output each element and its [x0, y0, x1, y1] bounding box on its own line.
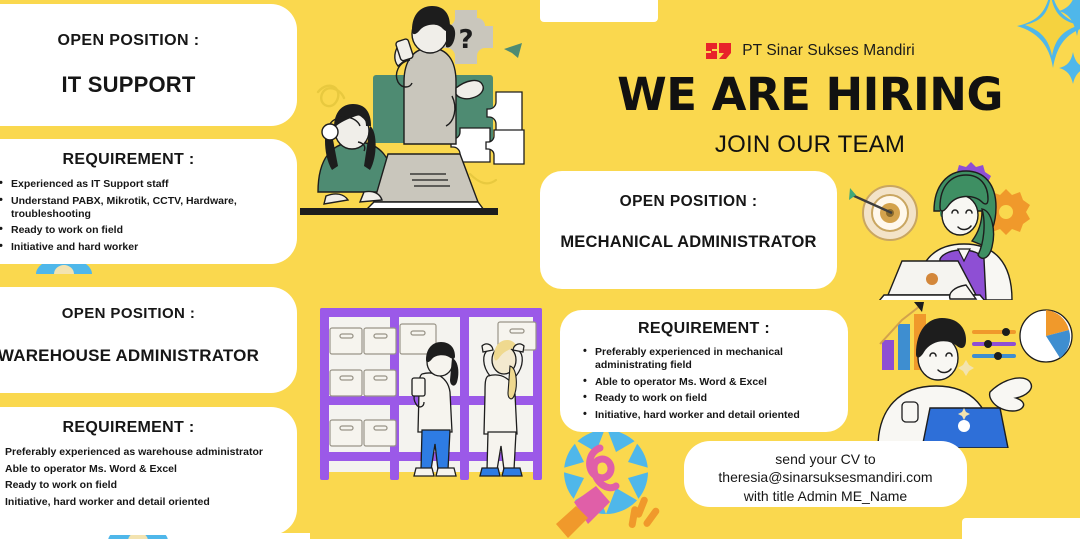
requirement-label-it: REQUIREMENT : [0, 151, 297, 169]
requirement-list-warehouse: Preferably experienced as warehouse admi… [0, 446, 297, 509]
contact-line-3: with title Admin ME_Name [684, 487, 967, 505]
requirement-item: Initiative, hard worker and detail orien… [0, 496, 297, 509]
requirement-item: Ready to work on field [0, 479, 297, 492]
warehouse-shelving-illustration [312, 300, 560, 488]
man-with-charts-illustration [868, 296, 1080, 448]
requirement-item: Able to operator Ms. Word & Excel [0, 463, 297, 476]
contact-email[interactable]: theresia@sinarsuksesmandiri.com [684, 468, 967, 486]
position-title-it-support: IT SUPPORT [0, 72, 297, 98]
open-position-label-warehouse: OPEN POSITION : [0, 305, 297, 322]
it-support-illustration: ? [300, 0, 550, 218]
svg-text:?: ? [458, 25, 473, 55]
requirement-item: Ready to work on field [582, 392, 848, 405]
requirement-item: Understand PABX, Mikrotik, CCTV, Hardwar… [0, 195, 297, 221]
requirement-list-mechanical: Preferably experienced in mechanical adm… [582, 346, 848, 422]
requirement-item: Initiative, hard worker and detail orien… [582, 409, 848, 422]
poster-canvas: ? [0, 0, 1080, 539]
top-edge-notch [540, 0, 658, 22]
card-mechanical-position: OPEN POSITION : MECHANICAL ADMINISTRATOR [540, 171, 837, 289]
bottom-right-edge-notch [962, 518, 1080, 539]
card-contact-info: send your CV to theresia@sinarsuksesmand… [684, 441, 967, 507]
requirement-item: Initiative and hard worker [0, 241, 297, 254]
requirement-item: Able to operator Ms. Word & Excel [582, 376, 848, 389]
requirement-label-warehouse: REQUIREMENT : [0, 419, 297, 437]
requirement-label-mechanical: REQUIREMENT : [560, 320, 848, 338]
company-name: PT Sinar Sukses Mandiri [742, 42, 915, 60]
join-team-subtitle: JOIN OUR TEAM [580, 131, 1040, 159]
card-mechanical-requirements: REQUIREMENT : Preferably experienced in … [560, 310, 848, 432]
open-position-label-it: OPEN POSITION : [0, 32, 297, 50]
lightbulb-idea-illustration [534, 424, 679, 539]
position-title-mechanical-administrator: MECHANICAL ADMINISTRATOR [540, 233, 837, 252]
hiring-title: WE ARE HIRING [580, 72, 1040, 117]
card-warehouse-requirements: REQUIREMENT : Preferably experienced as … [0, 407, 297, 535]
company-logo-icon [705, 40, 733, 62]
requirement-list-it: Experienced as IT Support staffUnderstan… [0, 178, 297, 254]
woman-with-laptop-illustration [840, 155, 1080, 300]
requirement-item: Experienced as IT Support staff [0, 178, 297, 191]
requirement-item: Ready to work on field [0, 224, 297, 237]
requirement-item: Preferably experienced as warehouse admi… [0, 446, 297, 459]
requirement-item: Preferably experienced in mechanical adm… [582, 346, 848, 372]
card-it-support-position: OPEN POSITION : IT SUPPORT [0, 4, 297, 126]
open-position-label-mechanical: OPEN POSITION : [540, 193, 837, 211]
contact-line-1: send your CV to [684, 441, 967, 468]
brand-row: PT Sinar Sukses Mandiri [600, 40, 1020, 62]
card-warehouse-position: OPEN POSITION : WAREHOUSE ADMINISTRATOR [0, 287, 297, 393]
card-it-support-requirements: REQUIREMENT : Experienced as IT Support … [0, 139, 297, 264]
position-title-warehouse-administrator: WAREHOUSE ADMINISTRATOR [0, 346, 297, 366]
